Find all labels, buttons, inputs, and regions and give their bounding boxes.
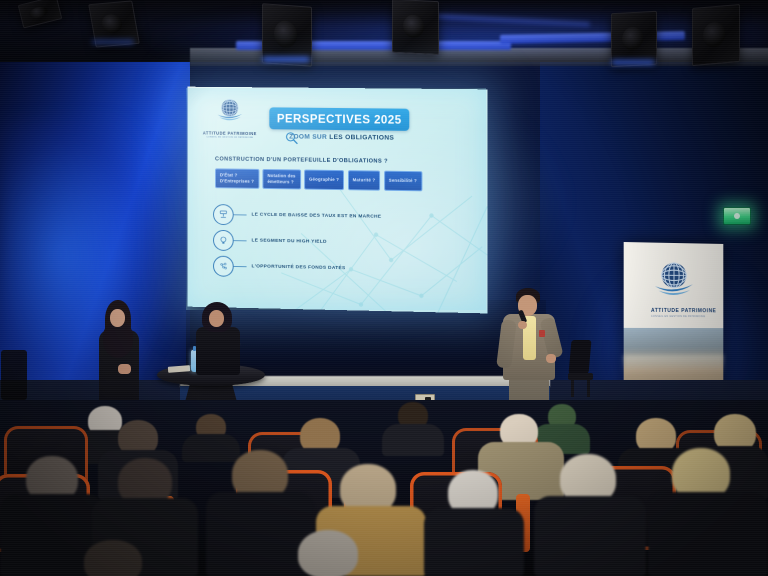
stage-chair-right bbox=[566, 340, 596, 396]
speaker-glow bbox=[92, 40, 134, 44]
audience-head bbox=[84, 540, 142, 576]
network-icon bbox=[213, 255, 234, 276]
projection-screen: ATTITUDE PATRIMOINE CONSEIL EN GESTION D… bbox=[186, 88, 486, 310]
ceiling-speaker bbox=[611, 11, 657, 67]
bullet-connector bbox=[234, 266, 247, 267]
audience-shoulders bbox=[382, 424, 444, 456]
speaker-glow bbox=[262, 57, 310, 62]
slide-bullet-row: L'OPPORTUNITÉ DES FONDS DATÉS bbox=[213, 253, 463, 284]
bullet-connector bbox=[234, 214, 247, 215]
audience-shoulders bbox=[206, 492, 314, 576]
speaker-glow bbox=[611, 60, 655, 65]
slide-chip-row: D'État ? D'Entreprises ? Notation des ém… bbox=[215, 168, 422, 191]
slide-chip: Sensibilité ? bbox=[384, 171, 422, 192]
bullet-connector bbox=[234, 240, 247, 241]
lectern-icon bbox=[213, 204, 234, 225]
globe-wave-icon bbox=[215, 95, 245, 125]
slide-subtitle-strong: LES OBLIGATIONS bbox=[329, 134, 394, 142]
audience bbox=[0, 400, 768, 576]
slide-chip: D'État ? D'Entreprises ? bbox=[215, 168, 259, 189]
presentation-photo: ATTITUDE PATRIMOINE CONSEIL EN GESTION D… bbox=[0, 0, 768, 576]
lapel-badge bbox=[539, 330, 545, 337]
logo-tagline: CONSEIL EN GESTION DE PATRIMOINE bbox=[199, 136, 260, 139]
audience-shoulders bbox=[534, 496, 646, 576]
woman-seated-at-table bbox=[196, 302, 240, 372]
audience-shoulders bbox=[648, 492, 768, 576]
slide-chip: Maturité ? bbox=[348, 170, 381, 191]
banner-tagline: CONSEIL EN GESTION DE PATRIMOINE bbox=[651, 315, 697, 318]
ceiling-speaker bbox=[692, 4, 740, 66]
slide-subtitle-prefix: ZOOM SUR bbox=[289, 133, 329, 140]
banner-logo: ATTITUDE PATRIMOINE CONSEIL EN GESTION D… bbox=[651, 257, 697, 318]
slide-title-band: PERSPECTIVES 2025 bbox=[269, 107, 409, 131]
audience-shoulders bbox=[182, 434, 240, 462]
stage-chair-left bbox=[1, 350, 27, 400]
slide-title: PERSPECTIVES 2025 bbox=[277, 112, 402, 126]
ceiling-speaker bbox=[392, 0, 439, 55]
slide-bullet-text: LE CYCLE DE BAISSE DES TAUX EST EN MARCH… bbox=[252, 212, 382, 219]
globe-wave-icon bbox=[652, 257, 696, 302]
slide-bullet-list: LE CYCLE DE BAISSE DES TAUX EST EN MARCH… bbox=[213, 201, 463, 284]
emergency-exit-sign bbox=[723, 207, 751, 225]
audience-shoulders bbox=[424, 508, 524, 576]
audience-head bbox=[298, 530, 358, 576]
slide-section-question: CONSTRUCTION D'UN PORTEFEUILLE D'OBLIGAT… bbox=[215, 156, 388, 164]
slide-bullet-text: LE SEGMENT DU HIGH YIELD bbox=[252, 238, 327, 244]
logo-name: ATTITUDE PATRIMOINE bbox=[199, 130, 260, 136]
slide-canvas: ATTITUDE PATRIMOINE CONSEIL EN GESTION D… bbox=[187, 87, 487, 314]
slide-chip: Géographie ? bbox=[304, 170, 344, 191]
slide-chip: Notation des émetteurs ? bbox=[262, 169, 300, 190]
lightbulb-icon bbox=[213, 229, 234, 250]
slide-logo: ATTITUDE PATRIMOINE CONSEIL EN GESTION D… bbox=[199, 95, 260, 139]
slide-bullet-text: L'OPPORTUNITÉ DES FONDS DATÉS bbox=[252, 264, 346, 271]
banner-name: ATTITUDE PATRIMOINE bbox=[651, 308, 697, 314]
